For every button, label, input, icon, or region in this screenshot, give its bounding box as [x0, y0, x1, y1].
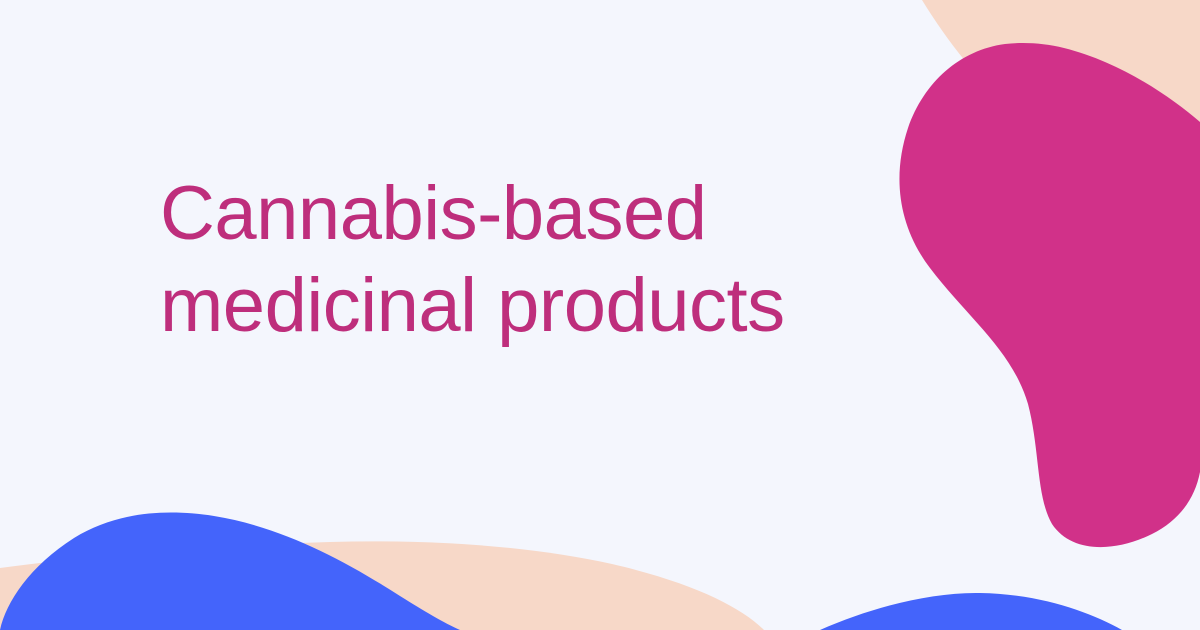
title-line-1: Cannabis-based	[160, 168, 920, 260]
social-card: Cannabis-based medicinal products	[0, 0, 1200, 630]
page-title: Cannabis-based medicinal products	[160, 168, 920, 352]
title-line-2: medicinal products	[160, 260, 920, 352]
